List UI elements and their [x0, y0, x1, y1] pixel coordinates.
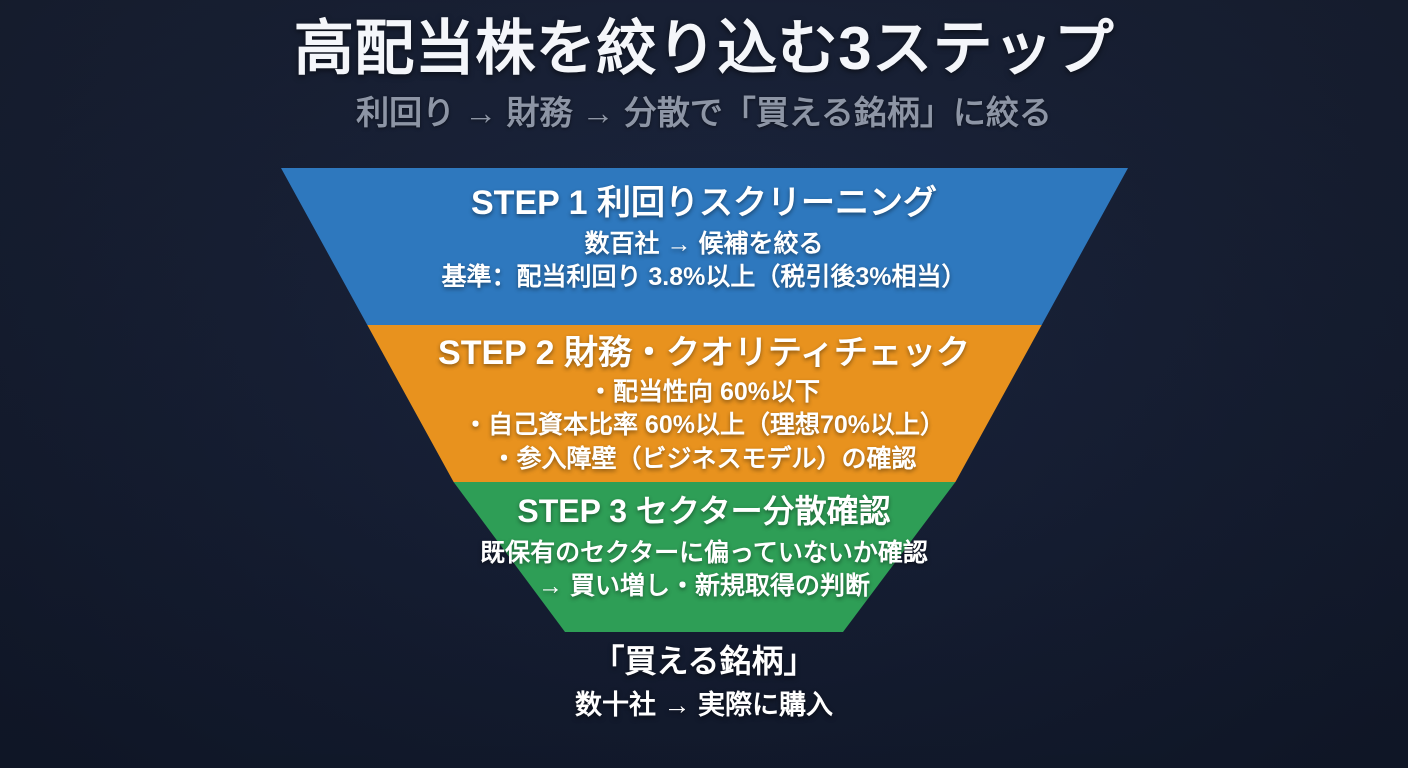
step-3-line-2: → 買い増し・新規取得の判断	[0, 570, 1408, 603]
page-title: 高配当株を絞り込む3ステップ	[0, 0, 1408, 85]
step-2-line-3: ・参入障壁（ビジネスモデル）の確認	[0, 443, 1408, 476]
step-1-lines: 数百社 → 候補を絞る 基準：配当利回り 3.8%以上（税引後3%相当）	[0, 228, 1408, 295]
step-2-title: STEP 2 財務・クオリティチェック	[0, 334, 1408, 372]
step-3-lines: 既保有のセクターに偏っていないか確認 → 買い増し・新規取得の判断	[0, 537, 1408, 604]
step-2-line-2: ・自己資本比率 60%以上（理想70%以上）	[0, 409, 1408, 442]
funnel-step-3: STEP 3 セクター分散確認 既保有のセクターに偏っていないか確認 → 買い増…	[0, 494, 1408, 603]
step-2-line-1: ・配当性向 60%以下	[0, 376, 1408, 409]
step-3-title: STEP 3 セクター分散確認	[0, 494, 1408, 530]
step-3-line-1: 既保有のセクターに偏っていないか確認	[0, 537, 1408, 570]
slide-header: 高配当株を絞り込む3ステップ 利回り → 財務 → 分散で「買える銘柄」に絞る	[0, 0, 1408, 132]
step-1-line-1: 数百社 → 候補を絞る	[0, 228, 1408, 261]
step-2-lines: ・配当性向 60%以下 ・自己資本比率 60%以上（理想70%以上） ・参入障壁…	[0, 376, 1408, 476]
page-subtitle: 利回り → 財務 → 分散で「買える銘柄」に絞る	[0, 85, 1408, 133]
funnel-outcome: 「買える銘柄」 数十社 → 実際に購入	[0, 642, 1408, 722]
outcome-subtitle: 数十社 → 実際に購入	[0, 689, 1408, 721]
step-1-title: STEP 1 利回りスクリーニング	[0, 184, 1408, 222]
funnel-step-2: STEP 2 財務・クオリティチェック ・配当性向 60%以下 ・自己資本比率 …	[0, 334, 1408, 476]
outcome-title: 「買える銘柄」	[0, 642, 1408, 680]
slide-canvas: 高配当株を絞り込む3ステップ 利回り → 財務 → 分散で「買える銘柄」に絞る …	[0, 0, 1408, 768]
step-1-line-2: 基準：配当利回り 3.8%以上（税引後3%相当）	[0, 261, 1408, 294]
funnel-step-1: STEP 1 利回りスクリーニング 数百社 → 候補を絞る 基準：配当利回り 3…	[0, 184, 1408, 295]
